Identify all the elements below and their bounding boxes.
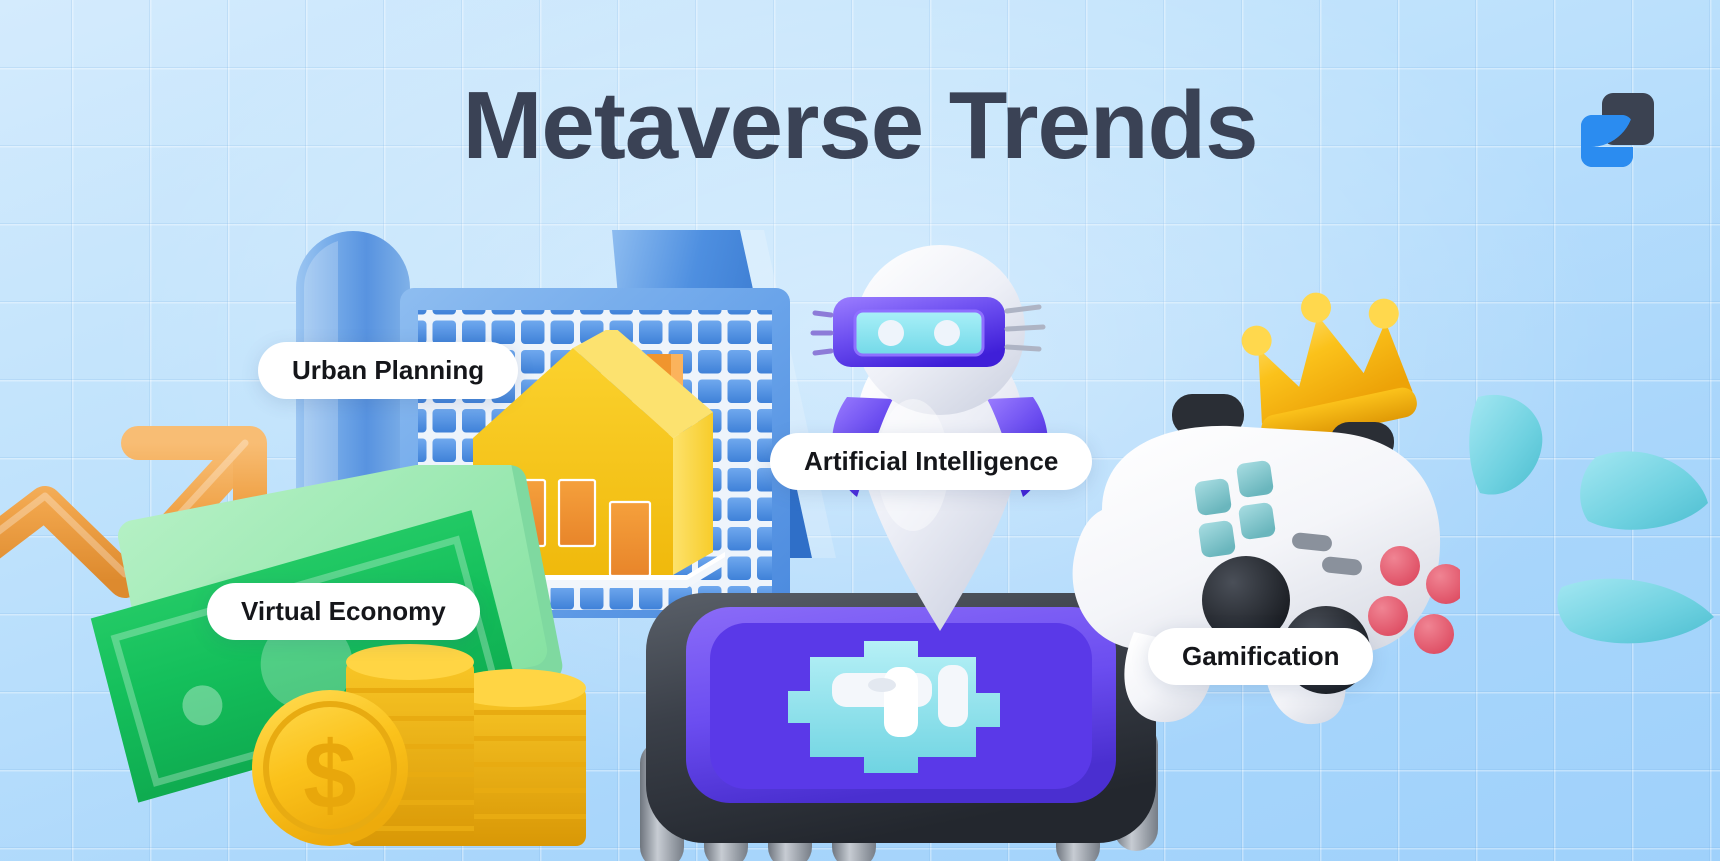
gold-coins-icon: $: [250, 608, 590, 861]
teal-shards-icon: [1430, 355, 1720, 665]
label-pill-urban-planning[interactable]: Urban Planning: [258, 342, 518, 399]
label-pill-text: Gamification: [1182, 641, 1339, 672]
poster-canvas: $: [0, 0, 1720, 861]
logo-blue-lower: [1581, 115, 1633, 167]
label-pill-gamification[interactable]: Gamification: [1148, 628, 1373, 685]
brand-logo[interactable]: [1572, 85, 1662, 175]
label-pill-text: Urban Planning: [292, 355, 484, 386]
label-pill-artificial-intelligence[interactable]: Artificial Intelligence: [770, 433, 1092, 490]
svg-text:$: $: [303, 722, 356, 829]
label-pill-virtual-economy[interactable]: Virtual Economy: [207, 583, 480, 640]
label-pill-text: Artificial Intelligence: [804, 446, 1058, 477]
label-pill-text: Virtual Economy: [241, 596, 446, 627]
page-title: Metaverse Trends: [0, 78, 1720, 174]
